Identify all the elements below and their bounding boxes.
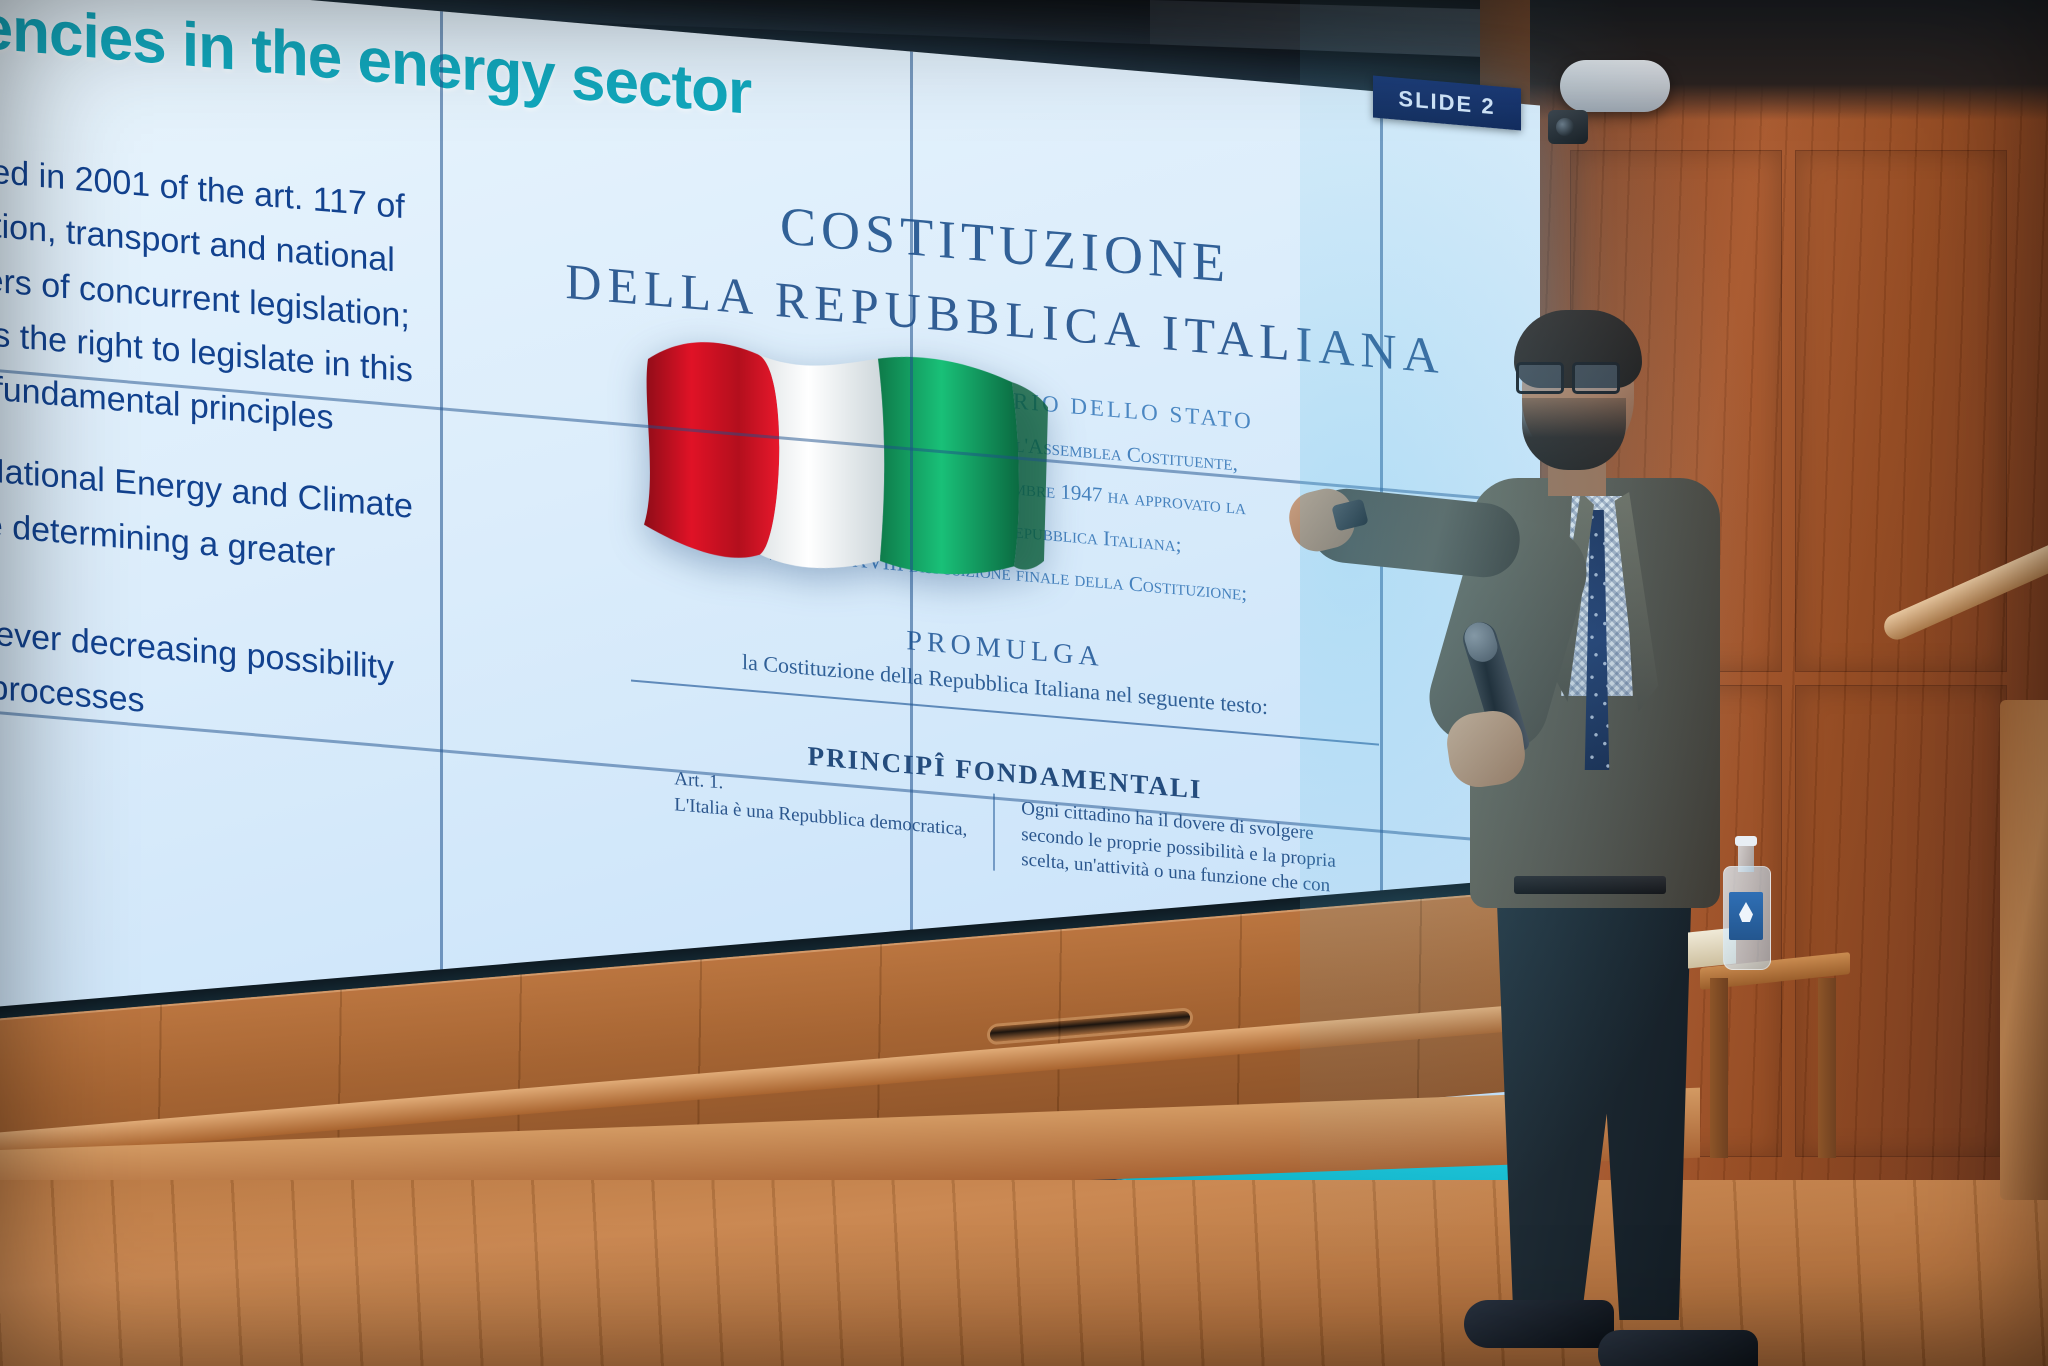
presenter bbox=[1430, 320, 1760, 1366]
presenter-beard bbox=[1522, 398, 1626, 470]
side-table-leg bbox=[1818, 978, 1836, 1158]
side-table-leg bbox=[1710, 978, 1728, 1158]
screen-bezel-vertical bbox=[440, 11, 443, 1121]
stage-railing bbox=[1880, 620, 2048, 1180]
presenter-trousers bbox=[1488, 890, 1700, 1320]
doc-column-divider bbox=[993, 794, 995, 871]
slide-body: ...rm approved in 2001 of the art. 117 o… bbox=[0, 132, 860, 793]
side-table bbox=[1700, 960, 1850, 1160]
presenter-shoe-right bbox=[1598, 1330, 1758, 1366]
screenshot-root: COSTITUZIONE DELLA REPUBBLICA ITALIANA I… bbox=[0, 0, 2048, 1366]
glasses-icon bbox=[1516, 362, 1620, 388]
railing-post bbox=[2000, 700, 2048, 1200]
bottle-cap bbox=[1735, 836, 1757, 846]
ceiling-speaker bbox=[1560, 60, 1670, 112]
bottle-neck bbox=[1738, 842, 1754, 872]
presenter-belt bbox=[1514, 876, 1666, 894]
presenter-shoe-left bbox=[1464, 1300, 1614, 1348]
ceiling-camera-icon bbox=[1548, 110, 1588, 144]
water-bottle bbox=[1723, 840, 1769, 968]
